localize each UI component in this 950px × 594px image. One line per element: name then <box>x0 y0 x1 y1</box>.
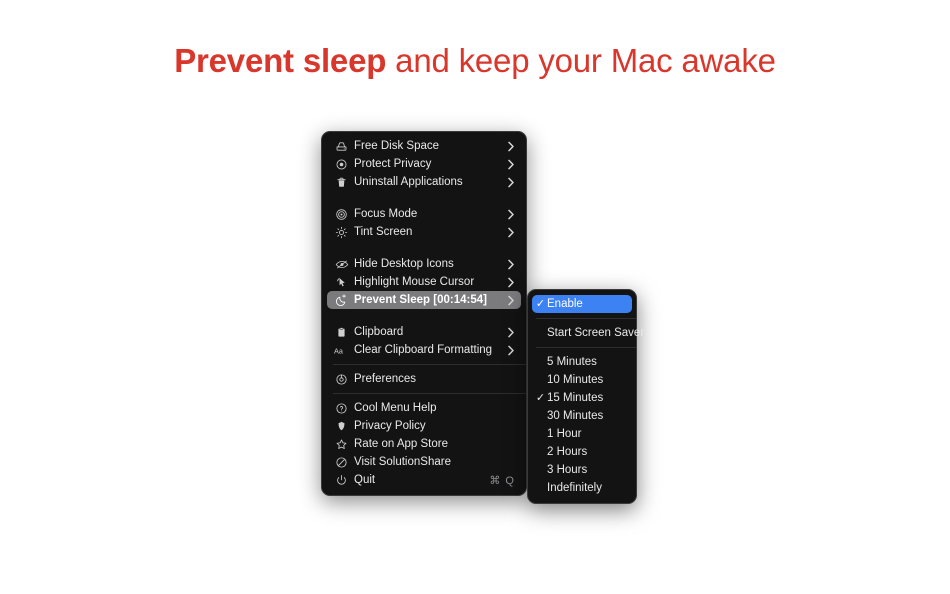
focus-icon <box>334 207 349 221</box>
submenu-item-label: 10 Minutes <box>547 374 627 386</box>
submenu-item-label: 3 Hours <box>547 464 627 476</box>
chevron-right-icon <box>505 327 515 338</box>
eye-slash-icon <box>334 257 349 271</box>
submenu-item-30-minutes[interactable]: 30 Minutes <box>532 407 632 425</box>
shield-lock-icon <box>334 419 349 433</box>
chevron-right-icon <box>505 295 515 306</box>
menu-item-label: Protect Privacy <box>354 158 505 170</box>
menu-item-label: Clipboard <box>354 326 505 338</box>
menu-item-label: Clear Clipboard Formatting <box>354 344 505 356</box>
menu-group-gap <box>322 309 526 323</box>
submenu-item-5-minutes[interactable]: 5 Minutes <box>532 353 632 371</box>
menu-item-focus-mode[interactable]: Focus Mode <box>327 205 521 223</box>
menu-item-protect-privacy[interactable]: Protect Privacy <box>327 155 521 173</box>
menu-item-uninstall-applications[interactable]: Uninstall Applications <box>327 173 521 191</box>
submenu-separator <box>536 318 636 319</box>
submenu-item-3-hours[interactable]: 3 Hours <box>532 461 632 479</box>
submenu-item-indefinitely[interactable]: Indefinitely <box>532 479 632 497</box>
cursor-highlight-icon <box>334 275 349 289</box>
menu-item-tint-screen[interactable]: Tint Screen <box>327 223 521 241</box>
menu-item-privacy-policy[interactable]: Privacy Policy <box>327 417 521 435</box>
star-icon <box>334 437 349 451</box>
menu-item-quit[interactable]: Quit⌘ Q <box>327 471 521 489</box>
gear-icon <box>334 372 349 386</box>
chevron-right-icon <box>505 159 515 170</box>
submenu-item-label: 1 Hour <box>547 428 627 440</box>
submenu-item-label: 15 Minutes <box>547 392 627 404</box>
submenu-item-label: 5 Minutes <box>547 356 627 368</box>
menu-item-label: Prevent Sleep [00:14:54] <box>354 294 505 306</box>
submenu-item-start-screen-saver[interactable]: Start Screen Saver <box>532 324 632 342</box>
page-title: Prevent sleep and keep your Mac awake <box>0 40 950 82</box>
menu-item-label: Hide Desktop Icons <box>354 258 505 270</box>
chevron-right-icon <box>505 177 515 188</box>
chevron-right-icon <box>505 259 515 270</box>
link-circle-icon <box>334 455 349 469</box>
page-title-emphasis: Prevent sleep <box>174 42 386 79</box>
disk-icon <box>334 139 349 153</box>
chevron-right-icon <box>505 227 515 238</box>
menu-item-prevent-sleep-00-14-54[interactable]: Prevent Sleep [00:14:54] <box>327 291 521 309</box>
menu-group-gap <box>322 241 526 255</box>
submenu-item-label: Start Screen Saver <box>547 327 644 339</box>
text-format-icon: Aa <box>334 343 349 357</box>
menu-item-shortcut: ⌘ Q <box>489 474 515 487</box>
submenu-item-10-minutes[interactable]: 10 Minutes <box>532 371 632 389</box>
menu-item-label: Uninstall Applications <box>354 176 505 188</box>
submenu-item-1-hour[interactable]: 1 Hour <box>532 425 632 443</box>
submenu-item-label: Indefinitely <box>547 482 627 494</box>
menu-item-clipboard[interactable]: Clipboard <box>327 323 521 341</box>
menu-item-label: Free Disk Space <box>354 140 505 152</box>
menu-item-label: Rate on App Store <box>354 438 505 450</box>
chevron-right-icon <box>505 345 515 356</box>
menu-item-free-disk-space[interactable]: Free Disk Space <box>327 137 521 155</box>
menu-item-rate-on-app-store[interactable]: Rate on App Store <box>327 435 521 453</box>
menu-item-hide-desktop-icons[interactable]: Hide Desktop Icons <box>327 255 521 273</box>
power-icon <box>334 473 349 487</box>
menu-item-clear-clipboard-formatting[interactable]: AaClear Clipboard Formatting <box>327 341 521 359</box>
submenu-item-label: 2 Hours <box>547 446 627 458</box>
submenu-item-enable[interactable]: ✓Enable <box>532 295 632 313</box>
chevron-right-icon <box>505 141 515 152</box>
clipboard-icon <box>334 325 349 339</box>
submenu-item-15-minutes[interactable]: ✓15 Minutes <box>532 389 632 407</box>
question-circle-icon <box>334 401 349 415</box>
brightness-icon <box>334 225 349 239</box>
chevron-right-icon <box>505 209 515 220</box>
trash-icon <box>334 175 349 189</box>
menu-item-label: Visit SolutionShare <box>354 456 505 468</box>
prevent-sleep-submenu: ✓EnableStart Screen Saver5 Minutes10 Min… <box>527 289 637 504</box>
menu-item-preferences[interactable]: Preferences <box>327 370 521 388</box>
page-title-rest: and keep your Mac awake <box>386 42 776 79</box>
menu-separator <box>333 393 526 394</box>
main-menu: Free Disk SpaceProtect PrivacyUninstall … <box>321 131 527 496</box>
menu-item-label: Highlight Mouse Cursor <box>354 276 505 288</box>
menu-item-cool-menu-help[interactable]: Cool Menu Help <box>327 399 521 417</box>
checkmark-icon: ✓ <box>534 299 547 310</box>
menu-item-label: Tint Screen <box>354 226 505 238</box>
menu-item-label: Privacy Policy <box>354 420 505 432</box>
svg-text:Aa: Aa <box>334 346 344 355</box>
submenu-item-label: Enable <box>547 298 627 310</box>
menu-item-highlight-mouse-cursor[interactable]: Highlight Mouse Cursor <box>327 273 521 291</box>
submenu-item-2-hours[interactable]: 2 Hours <box>532 443 632 461</box>
submenu-item-label: 30 Minutes <box>547 410 627 422</box>
target-icon <box>334 157 349 171</box>
chevron-right-icon <box>505 277 515 288</box>
submenu-separator <box>536 347 636 348</box>
menu-item-label: Quit <box>354 474 489 486</box>
moon-icon <box>334 293 349 307</box>
menu-item-label: Cool Menu Help <box>354 402 505 414</box>
menu-separator <box>333 364 526 365</box>
menu-item-visit-solutionshare[interactable]: Visit SolutionShare <box>327 453 521 471</box>
menu-item-label: Focus Mode <box>354 208 505 220</box>
checkmark-icon: ✓ <box>534 393 547 404</box>
menu-group-gap <box>322 191 526 205</box>
menu-item-label: Preferences <box>354 373 505 385</box>
